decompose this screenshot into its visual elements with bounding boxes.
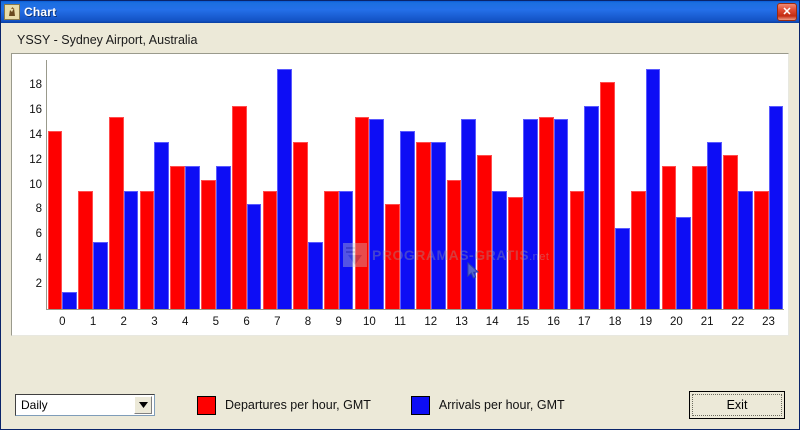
bar-departures <box>355 117 370 309</box>
bar-group <box>692 60 723 309</box>
bar-arrivals <box>523 119 538 309</box>
bar-arrivals <box>400 131 415 309</box>
bar-departures <box>201 180 216 309</box>
bar-group <box>722 60 753 309</box>
bar-departures <box>692 166 707 309</box>
x-axis-tick: 5 <box>201 313 232 331</box>
chevron-down-icon[interactable] <box>134 396 152 414</box>
x-axis-tick: 23 <box>753 313 784 331</box>
bar-group <box>201 60 232 309</box>
bar-group <box>231 60 262 309</box>
bar-departures <box>477 155 492 309</box>
bar-departures <box>723 155 738 309</box>
bar-arrivals <box>247 204 262 309</box>
x-axis-tick: 3 <box>139 313 170 331</box>
bar-group <box>415 60 446 309</box>
bar-group <box>108 60 139 309</box>
bar-group <box>47 60 78 309</box>
y-axis: 24681012141618 <box>12 54 46 335</box>
bar-arrivals <box>93 242 108 309</box>
bars-container <box>47 60 784 309</box>
bar-arrivals <box>492 191 507 309</box>
bar-arrivals <box>185 166 200 309</box>
y-axis-tick: 4 <box>36 253 42 265</box>
bar-group <box>293 60 324 309</box>
bar-group <box>477 60 508 309</box>
bar-departures <box>570 191 585 309</box>
x-axis-tick: 22 <box>722 313 753 331</box>
bar-departures <box>600 82 615 309</box>
y-axis-tick: 2 <box>36 278 42 290</box>
bar-group <box>753 60 784 309</box>
bar-group <box>508 60 539 309</box>
close-icon[interactable]: ✕ <box>777 3 797 21</box>
y-axis-tick: 6 <box>36 228 42 240</box>
period-select-value: Daily <box>16 398 134 412</box>
x-axis-tick: 10 <box>354 313 385 331</box>
bar-group <box>170 60 201 309</box>
chart-window: Chart ✕ YSSY - Sydney Airport, Australia… <box>0 0 800 430</box>
bar-arrivals <box>584 106 599 309</box>
bar-arrivals <box>646 69 661 309</box>
period-select[interactable]: Daily <box>15 394 155 416</box>
bar-group <box>385 60 416 309</box>
bar-departures <box>140 191 155 309</box>
y-axis-tick: 18 <box>29 79 42 91</box>
bar-departures <box>631 191 646 309</box>
bar-arrivals <box>554 119 569 309</box>
title-bar-buttons: ✕ <box>777 3 797 21</box>
x-axis-tick: 18 <box>600 313 631 331</box>
bar-group <box>538 60 569 309</box>
bar-arrivals <box>154 142 169 309</box>
bar-group <box>139 60 170 309</box>
x-axis-tick: 20 <box>661 313 692 331</box>
legend-label-arrivals: Arrivals per hour, GMT <box>439 398 565 412</box>
y-axis-tick: 16 <box>29 104 42 116</box>
app-icon <box>4 4 20 20</box>
bar-group <box>354 60 385 309</box>
bar-group <box>262 60 293 309</box>
x-axis-tick: 19 <box>630 313 661 331</box>
bar-departures <box>324 191 339 309</box>
bar-group <box>78 60 109 309</box>
bar-arrivals <box>431 142 446 309</box>
legend-item-departures: Departures per hour, GMT <box>197 396 371 415</box>
bar-departures <box>293 142 308 309</box>
bar-departures <box>754 191 769 309</box>
y-axis-tick: 14 <box>29 129 42 141</box>
y-axis-tick: 10 <box>29 179 42 191</box>
x-axis-tick: 13 <box>446 313 477 331</box>
bar-departures <box>385 204 400 309</box>
bar-departures <box>662 166 677 309</box>
x-axis-tick: 4 <box>170 313 201 331</box>
bar-departures <box>48 131 63 309</box>
client-area: YSSY - Sydney Airport, Australia 2468101… <box>1 23 799 381</box>
bar-arrivals <box>339 191 354 309</box>
window-title: Chart <box>24 5 777 19</box>
bottom-toolbar: Daily Departures per hour, GMT Arrivals … <box>1 381 799 429</box>
exit-button-label: Exit <box>727 398 748 412</box>
x-axis-tick: 7 <box>262 313 293 331</box>
x-axis-tick: 15 <box>508 313 539 331</box>
bar-group <box>569 60 600 309</box>
page-title: YSSY - Sydney Airport, Australia <box>17 33 789 47</box>
x-axis-tick: 8 <box>293 313 324 331</box>
bar-group <box>661 60 692 309</box>
x-axis-tick: 11 <box>385 313 416 331</box>
y-axis-tick: 12 <box>29 154 42 166</box>
bar-group <box>600 60 631 309</box>
bar-arrivals <box>277 69 292 309</box>
x-axis-tick: 1 <box>78 313 109 331</box>
chart-plot-area: 24681012141618 0123456789101112131415161… <box>11 53 789 336</box>
legend-label-departures: Departures per hour, GMT <box>225 398 371 412</box>
bar-arrivals <box>62 292 77 309</box>
bar-arrivals <box>769 106 784 309</box>
bar-arrivals <box>707 142 722 309</box>
bar-departures <box>263 191 278 309</box>
legend-item-arrivals: Arrivals per hour, GMT <box>411 396 565 415</box>
bar-arrivals <box>738 191 753 309</box>
exit-button[interactable]: Exit <box>689 391 785 419</box>
y-axis-tick: 8 <box>36 203 42 215</box>
bar-groups <box>47 60 784 309</box>
bar-departures <box>539 117 554 309</box>
x-axis-tick: 0 <box>47 313 78 331</box>
chart-legend: Departures per hour, GMT Arrivals per ho… <box>197 396 689 415</box>
bar-group <box>630 60 661 309</box>
title-bar: Chart ✕ <box>1 1 799 23</box>
bar-arrivals <box>308 242 323 309</box>
legend-swatch-departures <box>197 396 216 415</box>
bar-arrivals <box>615 228 630 309</box>
x-axis-tick: 9 <box>323 313 354 331</box>
bar-group <box>323 60 354 309</box>
bar-arrivals <box>369 119 384 309</box>
x-axis-line <box>46 309 784 310</box>
legend-swatch-arrivals <box>411 396 430 415</box>
bar-arrivals <box>124 191 139 309</box>
bar-departures <box>109 117 124 309</box>
x-axis-tick: 16 <box>538 313 569 331</box>
x-axis-tick: 21 <box>692 313 723 331</box>
bar-departures <box>78 191 93 309</box>
x-axis-tick: 6 <box>231 313 262 331</box>
x-axis-tick: 17 <box>569 313 600 331</box>
bar-group <box>446 60 477 309</box>
bar-departures <box>447 180 462 309</box>
bar-departures <box>232 106 247 309</box>
bar-departures <box>416 142 431 309</box>
x-axis-tick: 14 <box>477 313 508 331</box>
bar-departures <box>508 197 523 309</box>
x-axis-tick: 2 <box>108 313 139 331</box>
bar-arrivals <box>461 119 476 309</box>
bar-arrivals <box>676 217 691 309</box>
x-axis-tick: 12 <box>415 313 446 331</box>
bar-arrivals <box>216 166 231 309</box>
x-axis-labels: 01234567891011121314151617181920212223 <box>47 313 784 331</box>
bar-departures <box>170 166 185 309</box>
